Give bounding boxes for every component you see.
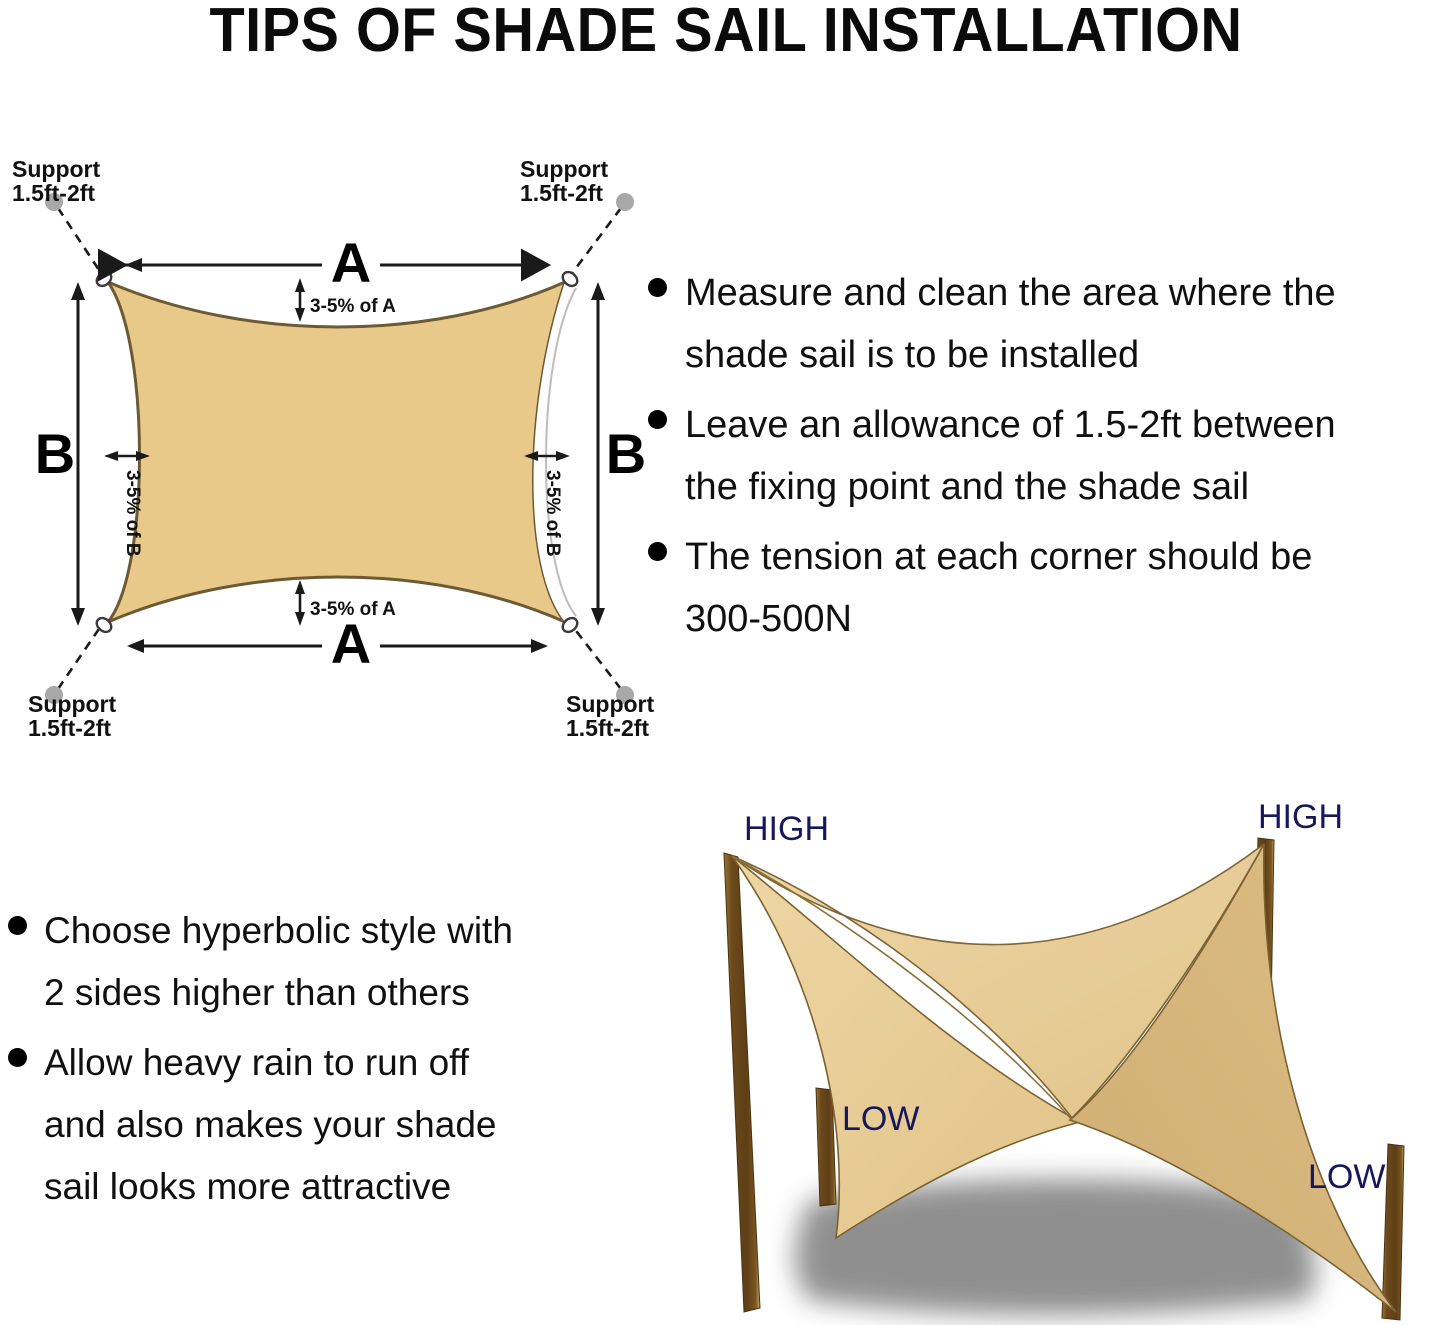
- support-leader-bottom-right: [570, 623, 621, 689]
- support-label-bottom-right: Support 1.5ft-2ft: [566, 691, 654, 740]
- support-label-line2: 1.5ft-2ft: [28, 715, 111, 740]
- dimension-width-bottom: A: [127, 612, 548, 675]
- rectangular-sail-diagram: A A B B: [0, 160, 680, 740]
- post-left-high: [724, 853, 760, 1312]
- support-leader-bottom-left: [58, 623, 103, 689]
- arrowhead-B-right-top: [591, 282, 605, 300]
- list-item-text: Choose hyperbolic style with 2 sides hig…: [44, 900, 513, 1024]
- tick-arrow-bottom-down: [295, 612, 305, 626]
- arrowhead-top-right: [534, 258, 551, 272]
- label-A-top: A: [331, 231, 371, 294]
- support-leader-top-left: [58, 208, 103, 276]
- arrowhead-B-right-bottom: [591, 608, 605, 626]
- sail-fabric: [108, 282, 565, 622]
- tips-bullet-list: Measure and clean the area where the sha…: [648, 262, 1452, 658]
- post-label-left-high: HIGH: [744, 810, 829, 848]
- list-item-text: Measure and clean the area where the sha…: [685, 262, 1336, 386]
- label-B-right: B: [606, 422, 646, 485]
- support-label-line2: 1.5ft-2ft: [12, 180, 95, 206]
- dimension-width-top: A: [125, 231, 548, 294]
- arrowhead-top-left: [125, 258, 142, 272]
- bullet-dot-icon: [648, 542, 667, 561]
- tick-arrow-top-up: [295, 278, 305, 292]
- list-item-text: Allow heavy rain to run off and also mak…: [44, 1032, 497, 1218]
- list-item-text: The tension at each corner should be 300…: [685, 526, 1312, 650]
- infographic-page: TIPS OF SHADE SAIL INSTALLATION: [0, 0, 1452, 1325]
- support-label-line2: 1.5ft-2ft: [520, 180, 603, 206]
- arrowhead-bottom-right: [531, 639, 548, 653]
- arrowhead-B-left-top: [71, 282, 85, 300]
- style-bullet-list: Choose hyperbolic style with 2 sides hig…: [8, 900, 632, 1226]
- label-curve-top: 3-5% of A: [310, 296, 396, 317]
- list-item: Leave an allowance of 1.5-2ft between th…: [648, 394, 1452, 518]
- support-leader-top-right: [570, 208, 621, 276]
- post-label-right-high: HIGH: [1258, 800, 1343, 836]
- list-item: Choose hyperbolic style with 2 sides hig…: [8, 900, 632, 1024]
- support-label-top-right: Support 1.5ft-2ft: [520, 160, 608, 206]
- list-item-text: Leave an allowance of 1.5-2ft between th…: [685, 394, 1336, 518]
- bullet-dot-icon: [8, 916, 27, 935]
- support-label-line2: 1.5ft-2ft: [566, 715, 649, 740]
- support-label-line1: Support: [28, 691, 116, 717]
- support-dot-top-right: [616, 193, 634, 211]
- post-label-left-low: LOW: [842, 1100, 919, 1138]
- list-item: Measure and clean the area where the sha…: [648, 262, 1452, 386]
- label-A-bottom: A: [331, 612, 371, 675]
- label-B-left: B: [35, 422, 75, 485]
- support-label-top-left: Support 1.5ft-2ft: [12, 160, 100, 206]
- support-label-line1: Support: [12, 160, 100, 182]
- arrowhead-B-left-bottom: [71, 608, 85, 626]
- label-curve-bottom: 3-5% of A: [310, 599, 396, 620]
- support-label-line1: Support: [520, 160, 608, 182]
- support-label-bottom-left: Support 1.5ft-2ft: [28, 691, 116, 740]
- label-curve-right: 3-5% of B: [542, 470, 563, 557]
- sail-shape: [108, 282, 600, 622]
- dimension-height-left: B: [35, 282, 85, 626]
- arrowhead-bottom-left: [127, 639, 144, 653]
- tick-arrow-left-a: [104, 451, 118, 461]
- support-label-line1: Support: [566, 691, 654, 717]
- dimension-height-right: B: [591, 282, 646, 626]
- label-curve-left: 3-5% of B: [122, 470, 143, 557]
- page-title: TIPS OF SHADE SAIL INSTALLATION: [51, 0, 1401, 63]
- post-label-right-low: LOW: [1308, 1158, 1385, 1196]
- bullet-dot-icon: [648, 410, 667, 429]
- list-item: The tension at each corner should be 300…: [648, 526, 1452, 650]
- list-item: Allow heavy rain to run off and also mak…: [8, 1032, 632, 1218]
- bullet-dot-icon: [648, 278, 667, 297]
- hyperbolic-sail-illustration: HIGH HIGH LOW LOW: [660, 800, 1452, 1325]
- bullet-dot-icon: [8, 1048, 27, 1067]
